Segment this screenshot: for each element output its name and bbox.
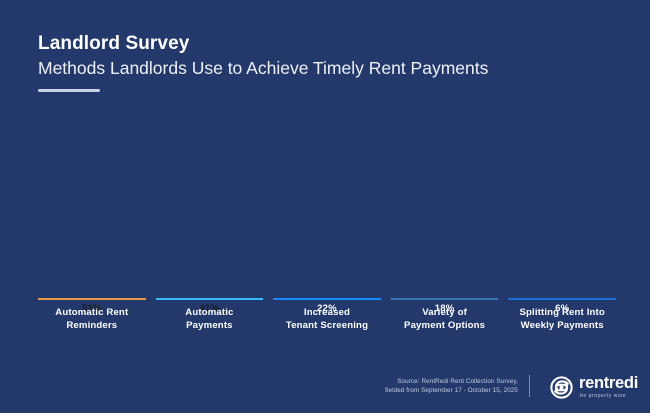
title-divider [38,89,100,92]
category-label-4: Variety ofPayment Options [391,298,499,332]
category-label-line1: Automatic [156,307,264,320]
chart-header: Landlord Survey Methods Landlords Use to… [38,33,618,92]
category-label-1: Automatic RentReminders [38,298,146,332]
category-label-line2: Tenant Screening [273,320,381,333]
category-label-2: AutomaticPayments [156,298,264,332]
category-label-line1: Splitting Rent Into [508,307,616,320]
category-label-3: IncreasedTenant Screening [273,298,381,332]
chart-footer: Source: RentRedi Rent Collection Survey,… [0,368,650,402]
logo-tagline: be property wise [580,394,638,399]
category-label-line2: Reminders [38,320,146,333]
rentredi-logo: rentredi be property wise [550,375,638,399]
bar-chart-plot: 51%41%22%18%6% [38,108,616,298]
category-label-line2: Weekly Payments [508,320,616,333]
rentredi-swirl-icon [550,376,573,399]
bar-column[interactable]: 18% [391,108,499,298]
chart-subtitle: Methods Landlords Use to Achieve Timely … [38,57,618,80]
bar-column[interactable]: 6% [508,108,616,298]
bar-column[interactable]: 51% [38,108,146,298]
bar-column[interactable]: 22% [273,108,381,298]
logo-text: rentredi be property wise [579,375,638,399]
source-line-1: Source: RentRedi Rent Collection Survey, [385,377,518,387]
bar-column[interactable]: 41% [156,108,264,298]
category-label-line2: Payment Options [391,320,499,333]
footer-divider [529,375,530,397]
category-label-line1: Increased [273,307,381,320]
logo-wordmark: rentredi [579,375,638,392]
source-line-2: fielded from September 17 - October 15, … [385,386,518,396]
category-label-line1: Automatic Rent [38,307,146,320]
category-axis: Automatic RentRemindersAutomaticPayments… [38,298,616,344]
category-label-5: Splitting Rent IntoWeekly Payments [508,298,616,332]
chart-slide: Landlord Survey Methods Landlords Use to… [0,0,650,413]
category-label-line1: Variety of [391,307,499,320]
source-note: Source: RentRedi Rent Collection Survey,… [385,377,518,397]
page-title: Landlord Survey [38,33,618,55]
category-label-line2: Payments [156,320,264,333]
